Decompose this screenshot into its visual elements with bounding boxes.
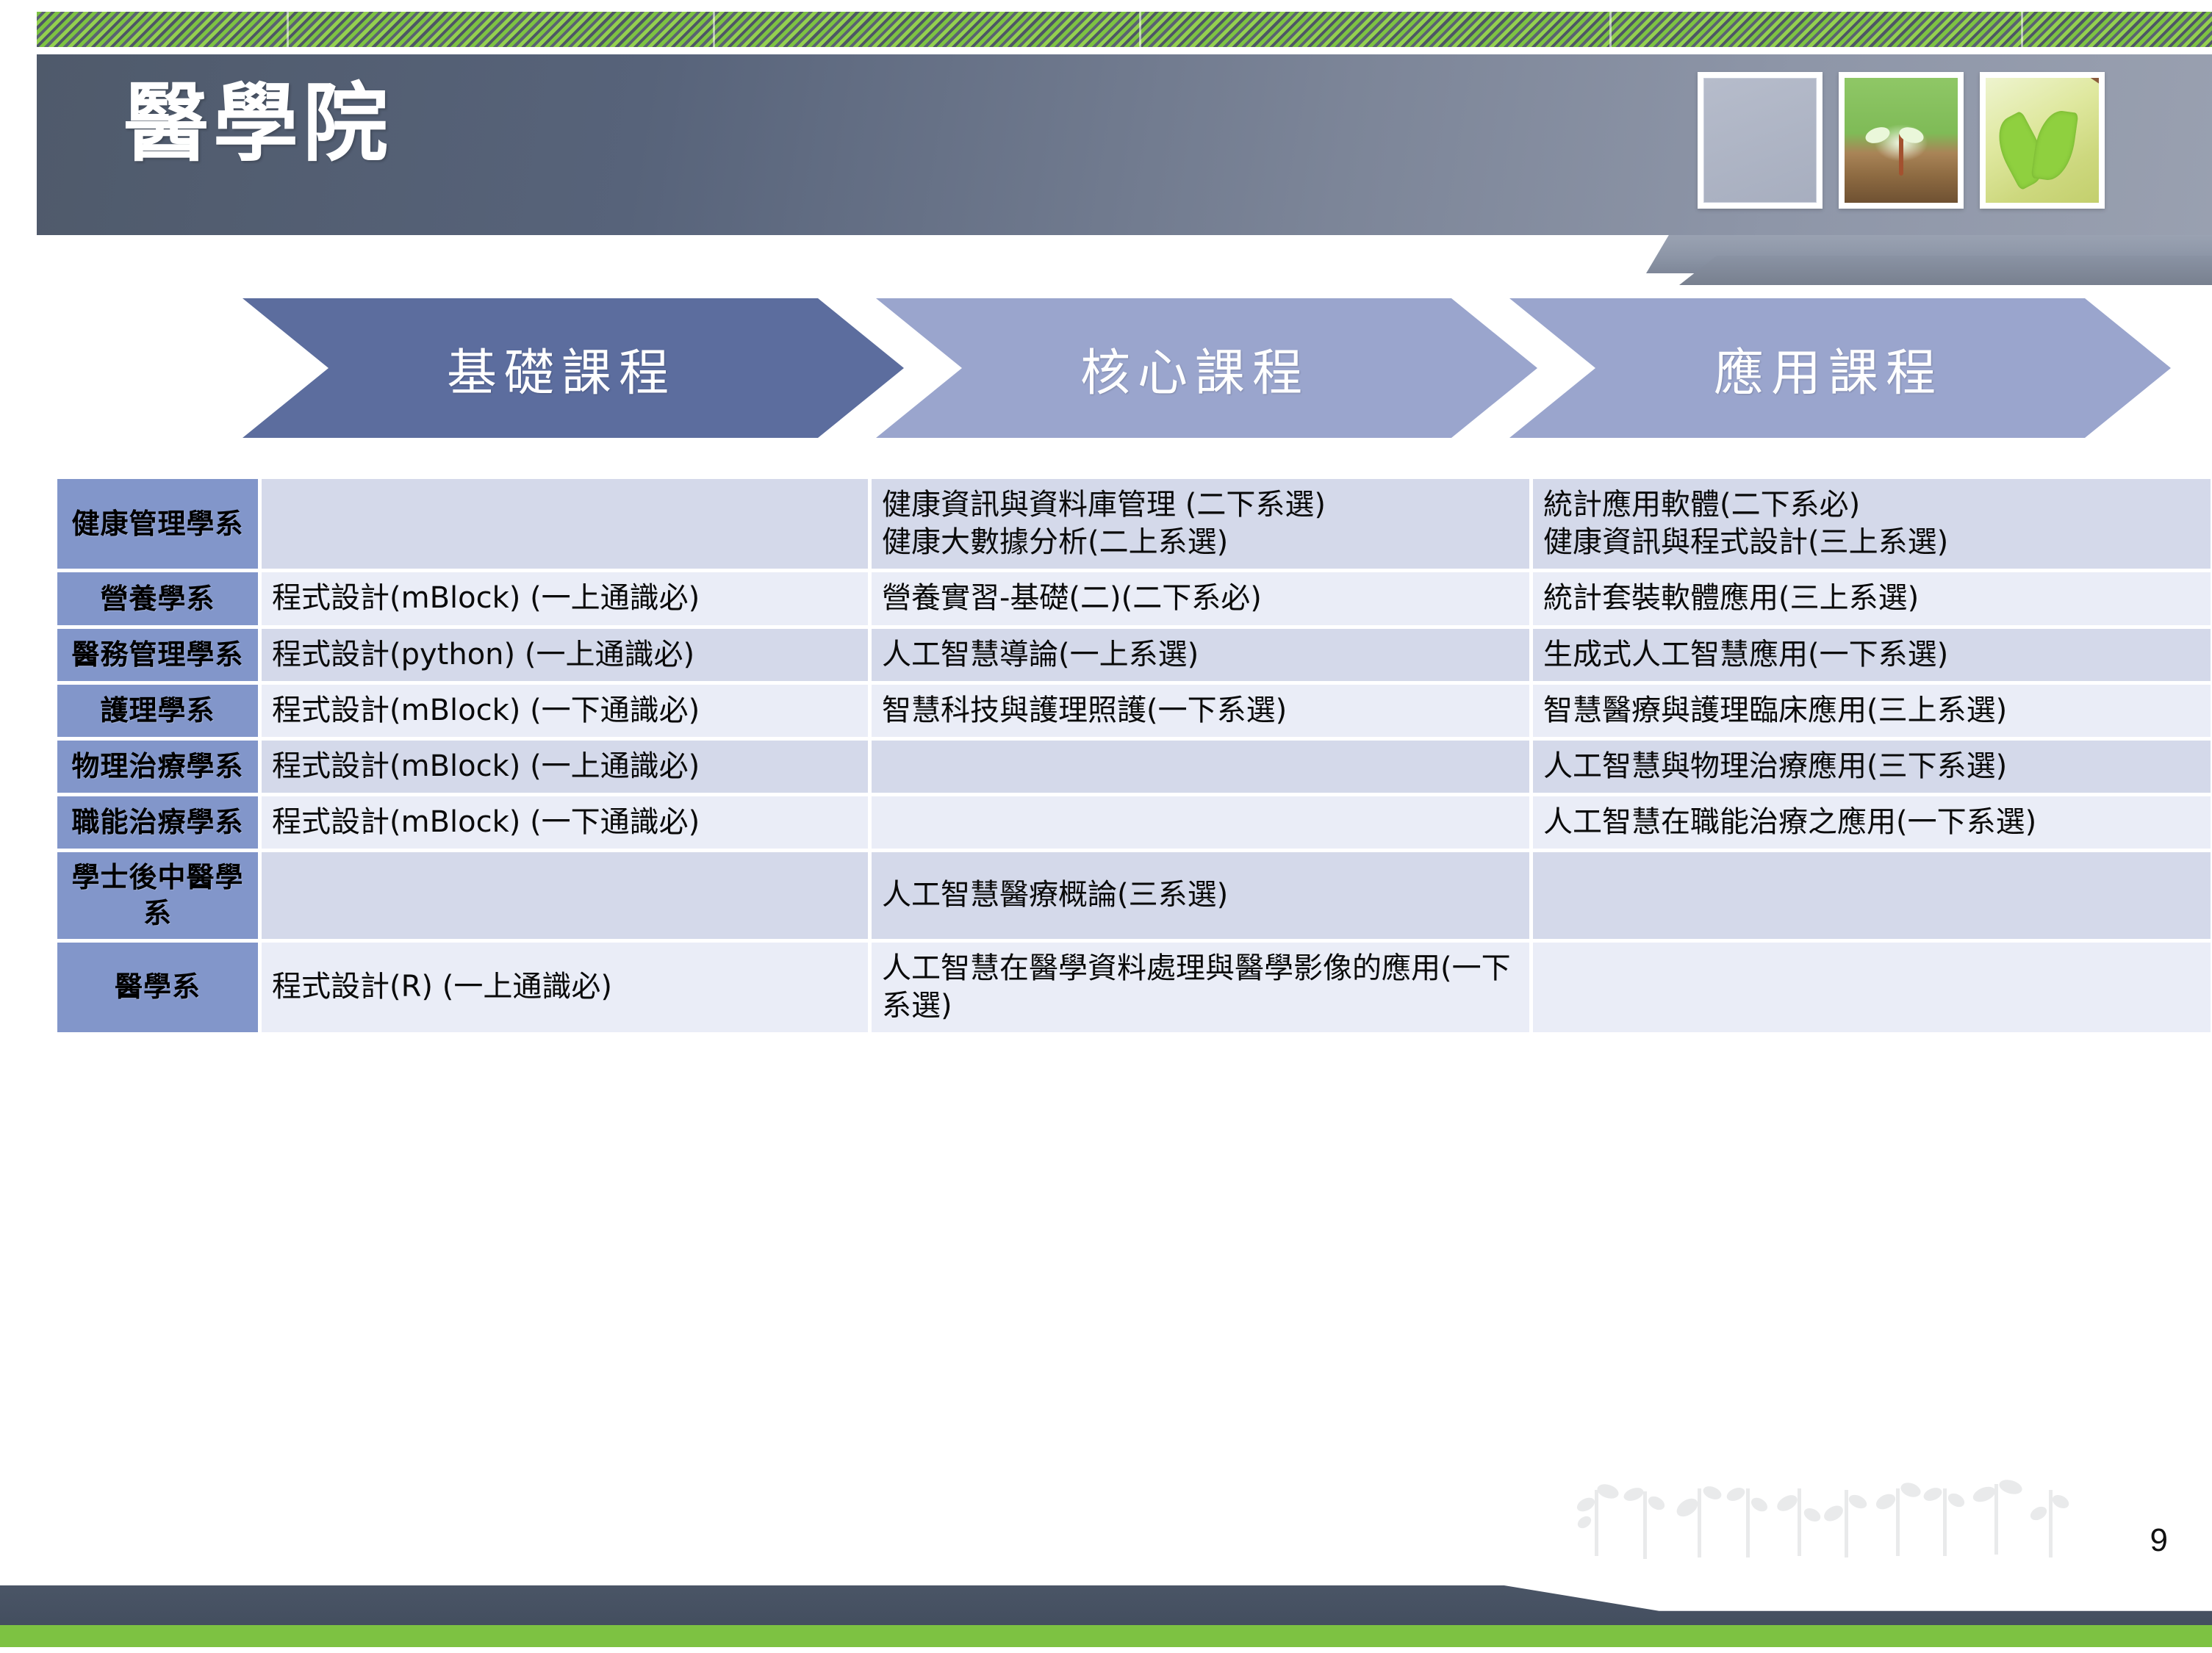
table-cell-basic-course (262, 479, 872, 572)
blank-placeholder-thumbnail (1698, 72, 1823, 209)
table-cell-applied-course: 統計套裝軟體應用(三上系選) (1533, 572, 2211, 628)
stage-chevron-applied[interactable]: 應用課程 (1509, 298, 2171, 438)
table-cell-department: 健康管理學系 (57, 479, 262, 572)
sprout-decoration-icon (1573, 1477, 2087, 1565)
table-cell-basic-course: 程式設計(R) (一上通識必) (262, 943, 872, 1032)
page-title: 醫學院 (123, 71, 392, 177)
top-decorative-strip (37, 12, 2212, 47)
table-row: 營養學系程式設計(mBlock) (一上通識必)營養實習-基礎(二)(二下系必)… (57, 572, 2211, 628)
header-step-shape-shadow (1679, 256, 2212, 285)
leaves-photo-thumbnail (1980, 72, 2105, 209)
table-cell-basic-course: 程式設計(python) (一上通識必) (262, 629, 872, 685)
curriculum-table-body: 健康管理學系健康資訊與資料庫管理 (二下系選)健康大數據分析(二上系選)統計應用… (57, 479, 2211, 1032)
table-cell-department: 醫務管理學系 (57, 629, 262, 685)
table-cell-department: 護理學系 (57, 685, 262, 741)
page-number: 9 (2150, 1522, 2168, 1559)
table-cell-core-course: 營養實習-基礎(二)(二下系必) (872, 572, 1533, 628)
table-row: 職能治療學系程式設計(mBlock) (一下通識必)人工智慧在職能治療之應用(一… (57, 796, 2211, 852)
table-row: 醫務管理學系程式設計(python) (一上通識必)人工智慧導論(一上系選)生成… (57, 629, 2211, 685)
table-row: 物理治療學系程式設計(mBlock) (一上通識必)人工智慧與物理治療應用(三下… (57, 741, 2211, 796)
table-cell-basic-course: 程式設計(mBlock) (一上通識必) (262, 572, 872, 628)
stage-chevron-core-label: 核心課程 (1080, 332, 1310, 405)
table-cell-applied-course (1533, 852, 2211, 942)
table-cell-basic-course: 程式設計(mBlock) (一上通識必) (262, 741, 872, 796)
table-cell-core-course: 智慧科技與護理照護(一下系選) (872, 685, 1533, 741)
table-cell-department: 物理治療學系 (57, 741, 262, 796)
stage-chevron-applied-label: 應用課程 (1714, 332, 1943, 405)
table-cell-department: 職能治療學系 (57, 796, 262, 852)
header-thumbnail-group (1698, 72, 2105, 209)
table-cell-department: 醫學系 (57, 943, 262, 1032)
table-cell-department: 營養學系 (57, 572, 262, 628)
table-row: 護理學系程式設計(mBlock) (一下通識必)智慧科技與護理照護(一下系選)智… (57, 685, 2211, 741)
slide-root: 醫學院 基礎課程 核心課程 應用課程 健康管理學系健康資訊與資料庫管理 (二 (0, 0, 2212, 1653)
stage-chevron-core[interactable]: 核心課程 (876, 298, 1537, 438)
table-cell-core-course (872, 796, 1533, 852)
table-cell-applied-course: 人工智慧與物理治療應用(三下系選) (1533, 741, 2211, 796)
footer-dark-bar (0, 1585, 2212, 1627)
table-row: 健康管理學系健康資訊與資料庫管理 (二下系選)健康大數據分析(二上系選)統計應用… (57, 479, 2211, 572)
stage-chevron-basic[interactable]: 基礎課程 (243, 298, 904, 438)
table-cell-core-course (872, 741, 1533, 796)
table-row: 學士後中醫學系人工智慧醫療概論(三系選) (57, 852, 2211, 942)
stage-chevron-basic-label: 基礎課程 (447, 332, 676, 405)
table-cell-applied-course: 智慧醫療與護理臨床應用(三上系選) (1533, 685, 2211, 741)
table-cell-core-course: 人工智慧導論(一上系選) (872, 629, 1533, 685)
table-cell-core-course: 人工智慧在醫學資料處理與醫學影像的應用(一下系選) (872, 943, 1533, 1032)
table-row: 醫學系程式設計(R) (一上通識必)人工智慧在醫學資料處理與醫學影像的應用(一下… (57, 943, 2211, 1032)
table-cell-basic-course: 程式設計(mBlock) (一下通識必) (262, 796, 872, 852)
table-cell-core-course: 健康資訊與資料庫管理 (二下系選)健康大數據分析(二上系選) (872, 479, 1533, 572)
table-cell-basic-course: 程式設計(mBlock) (一下通識必) (262, 685, 872, 741)
curriculum-table: 健康管理學系健康資訊與資料庫管理 (二下系選)健康大數據分析(二上系選)統計應用… (57, 479, 2211, 1032)
table-cell-basic-course (262, 852, 872, 942)
table-cell-applied-course: 統計應用軟體(二下系必)健康資訊與程式設計(三上系選) (1533, 479, 2211, 572)
table-cell-applied-course: 生成式人工智慧應用(一下系選) (1533, 629, 2211, 685)
sprout-photo-thumbnail (1839, 72, 1964, 209)
table-cell-applied-course (1533, 943, 2211, 1032)
footer-green-bar (0, 1625, 2212, 1647)
table-cell-department: 學士後中醫學系 (57, 852, 262, 942)
stage-chevron-banner: 基礎課程 核心課程 應用課程 (243, 298, 2065, 438)
table-cell-applied-course: 人工智慧在職能治療之應用(一下系選) (1533, 796, 2211, 852)
table-cell-core-course: 人工智慧醫療概論(三系選) (872, 852, 1533, 942)
